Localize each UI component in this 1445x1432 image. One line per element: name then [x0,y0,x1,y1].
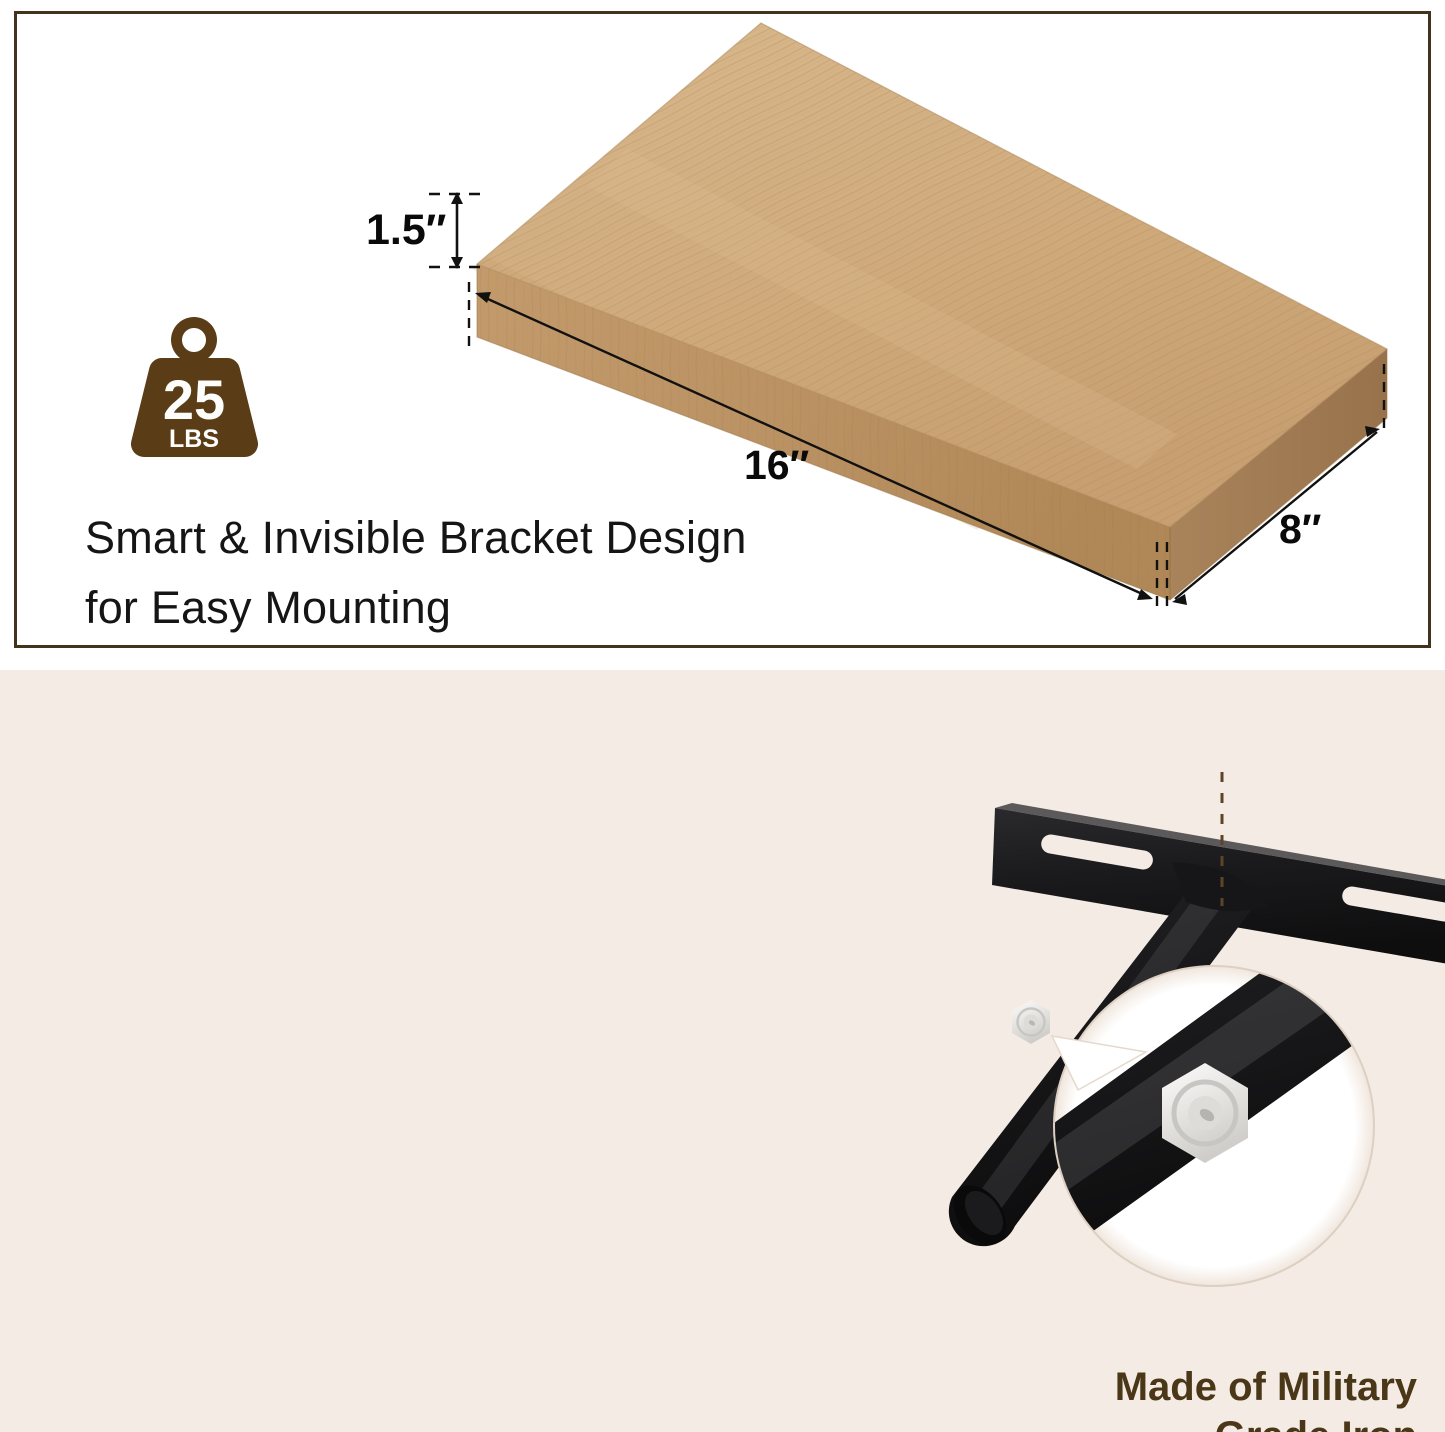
hex-set-screw-icon [1012,1000,1050,1044]
top-headline-line-2: for Easy Mounting [85,582,451,634]
military-grade-heading-line-2: Grade Iron [1215,1414,1417,1432]
dimension-length-label: 16″ [744,442,809,489]
infographic-stage: 1.5″ 16″ 8″ 25 LBS Smart & Invisible Bra… [0,0,1445,1432]
dimension-depth-label: 8″ [1279,506,1321,553]
top-headline-line-1: Smart & Invisible Bracket Design [85,512,747,564]
weight-capacity-icon: 25 LBS [121,314,267,462]
weight-value: 25 [163,368,225,431]
top-feature-panel: 1.5″ 16″ 8″ 25 LBS Smart & Invisible Bra… [14,11,1431,648]
bottom-feature-panel: 8″ 6.7″ Ours Others Sturdy & Reliable Pr… [0,670,1445,1432]
dimension-thickness-label: 1.5″ [366,206,446,255]
t-bracket-iron-icon [0,670,1445,1432]
weight-unit: LBS [169,425,219,453]
military-grade-heading-line-1: Made of Military [1115,1365,1417,1410]
